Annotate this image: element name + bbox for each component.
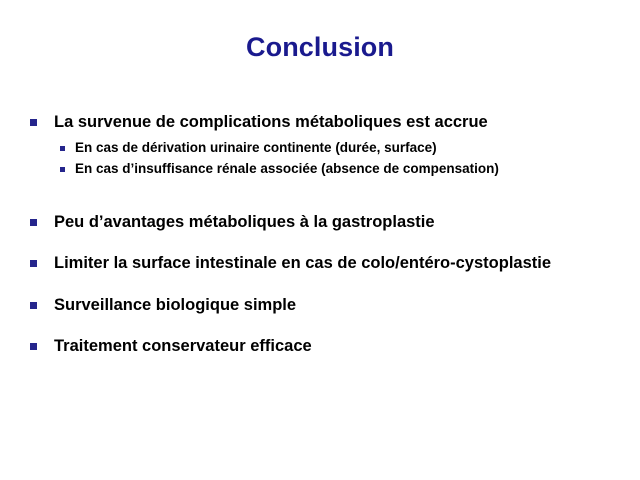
page-title: Conclusion	[0, 33, 640, 63]
list-item: Surveillance biologique simple	[0, 295, 640, 316]
list-item-label: La survenue de complications métabolique…	[54, 113, 488, 131]
bullet-list: La survenue de complications métabolique…	[0, 112, 640, 357]
square-bullet-icon	[30, 343, 37, 350]
square-bullet-icon	[60, 167, 65, 172]
list-item-label: Surveillance biologique simple	[54, 296, 296, 314]
list-item-label: Limiter la surface intestinale en cas de…	[54, 254, 551, 272]
list-item: Limiter la surface intestinale en cas de…	[0, 253, 640, 274]
list-item-label: Peu d’avantages métaboliques à la gastro…	[54, 213, 435, 231]
list-item: Peu d’avantages métaboliques à la gastro…	[0, 212, 640, 233]
spacer	[0, 274, 640, 295]
spacer	[0, 315, 640, 336]
list-item: Traitement conservateur efficace	[0, 336, 640, 357]
square-bullet-icon	[60, 146, 65, 151]
square-bullet-icon	[30, 302, 37, 309]
list-item: En cas de dérivation urinaire continente…	[0, 140, 640, 156]
square-bullet-icon	[30, 219, 37, 226]
square-bullet-icon	[30, 260, 37, 267]
presentation-slide: Conclusion La survenue de complications …	[0, 0, 640, 480]
spacer	[0, 183, 640, 212]
sub-bullet-list: En cas de dérivation urinaire continente…	[0, 140, 640, 178]
list-item-label: En cas d’insuffisance rénale associée (a…	[75, 161, 499, 176]
spacer	[0, 232, 640, 253]
list-item-label: En cas de dérivation urinaire continente…	[75, 140, 437, 155]
list-item: En cas d’insuffisance rénale associée (a…	[0, 161, 640, 177]
list-item-label: Traitement conservateur efficace	[54, 337, 312, 355]
square-bullet-icon	[30, 119, 37, 126]
list-item: La survenue de complications métabolique…	[0, 112, 640, 133]
